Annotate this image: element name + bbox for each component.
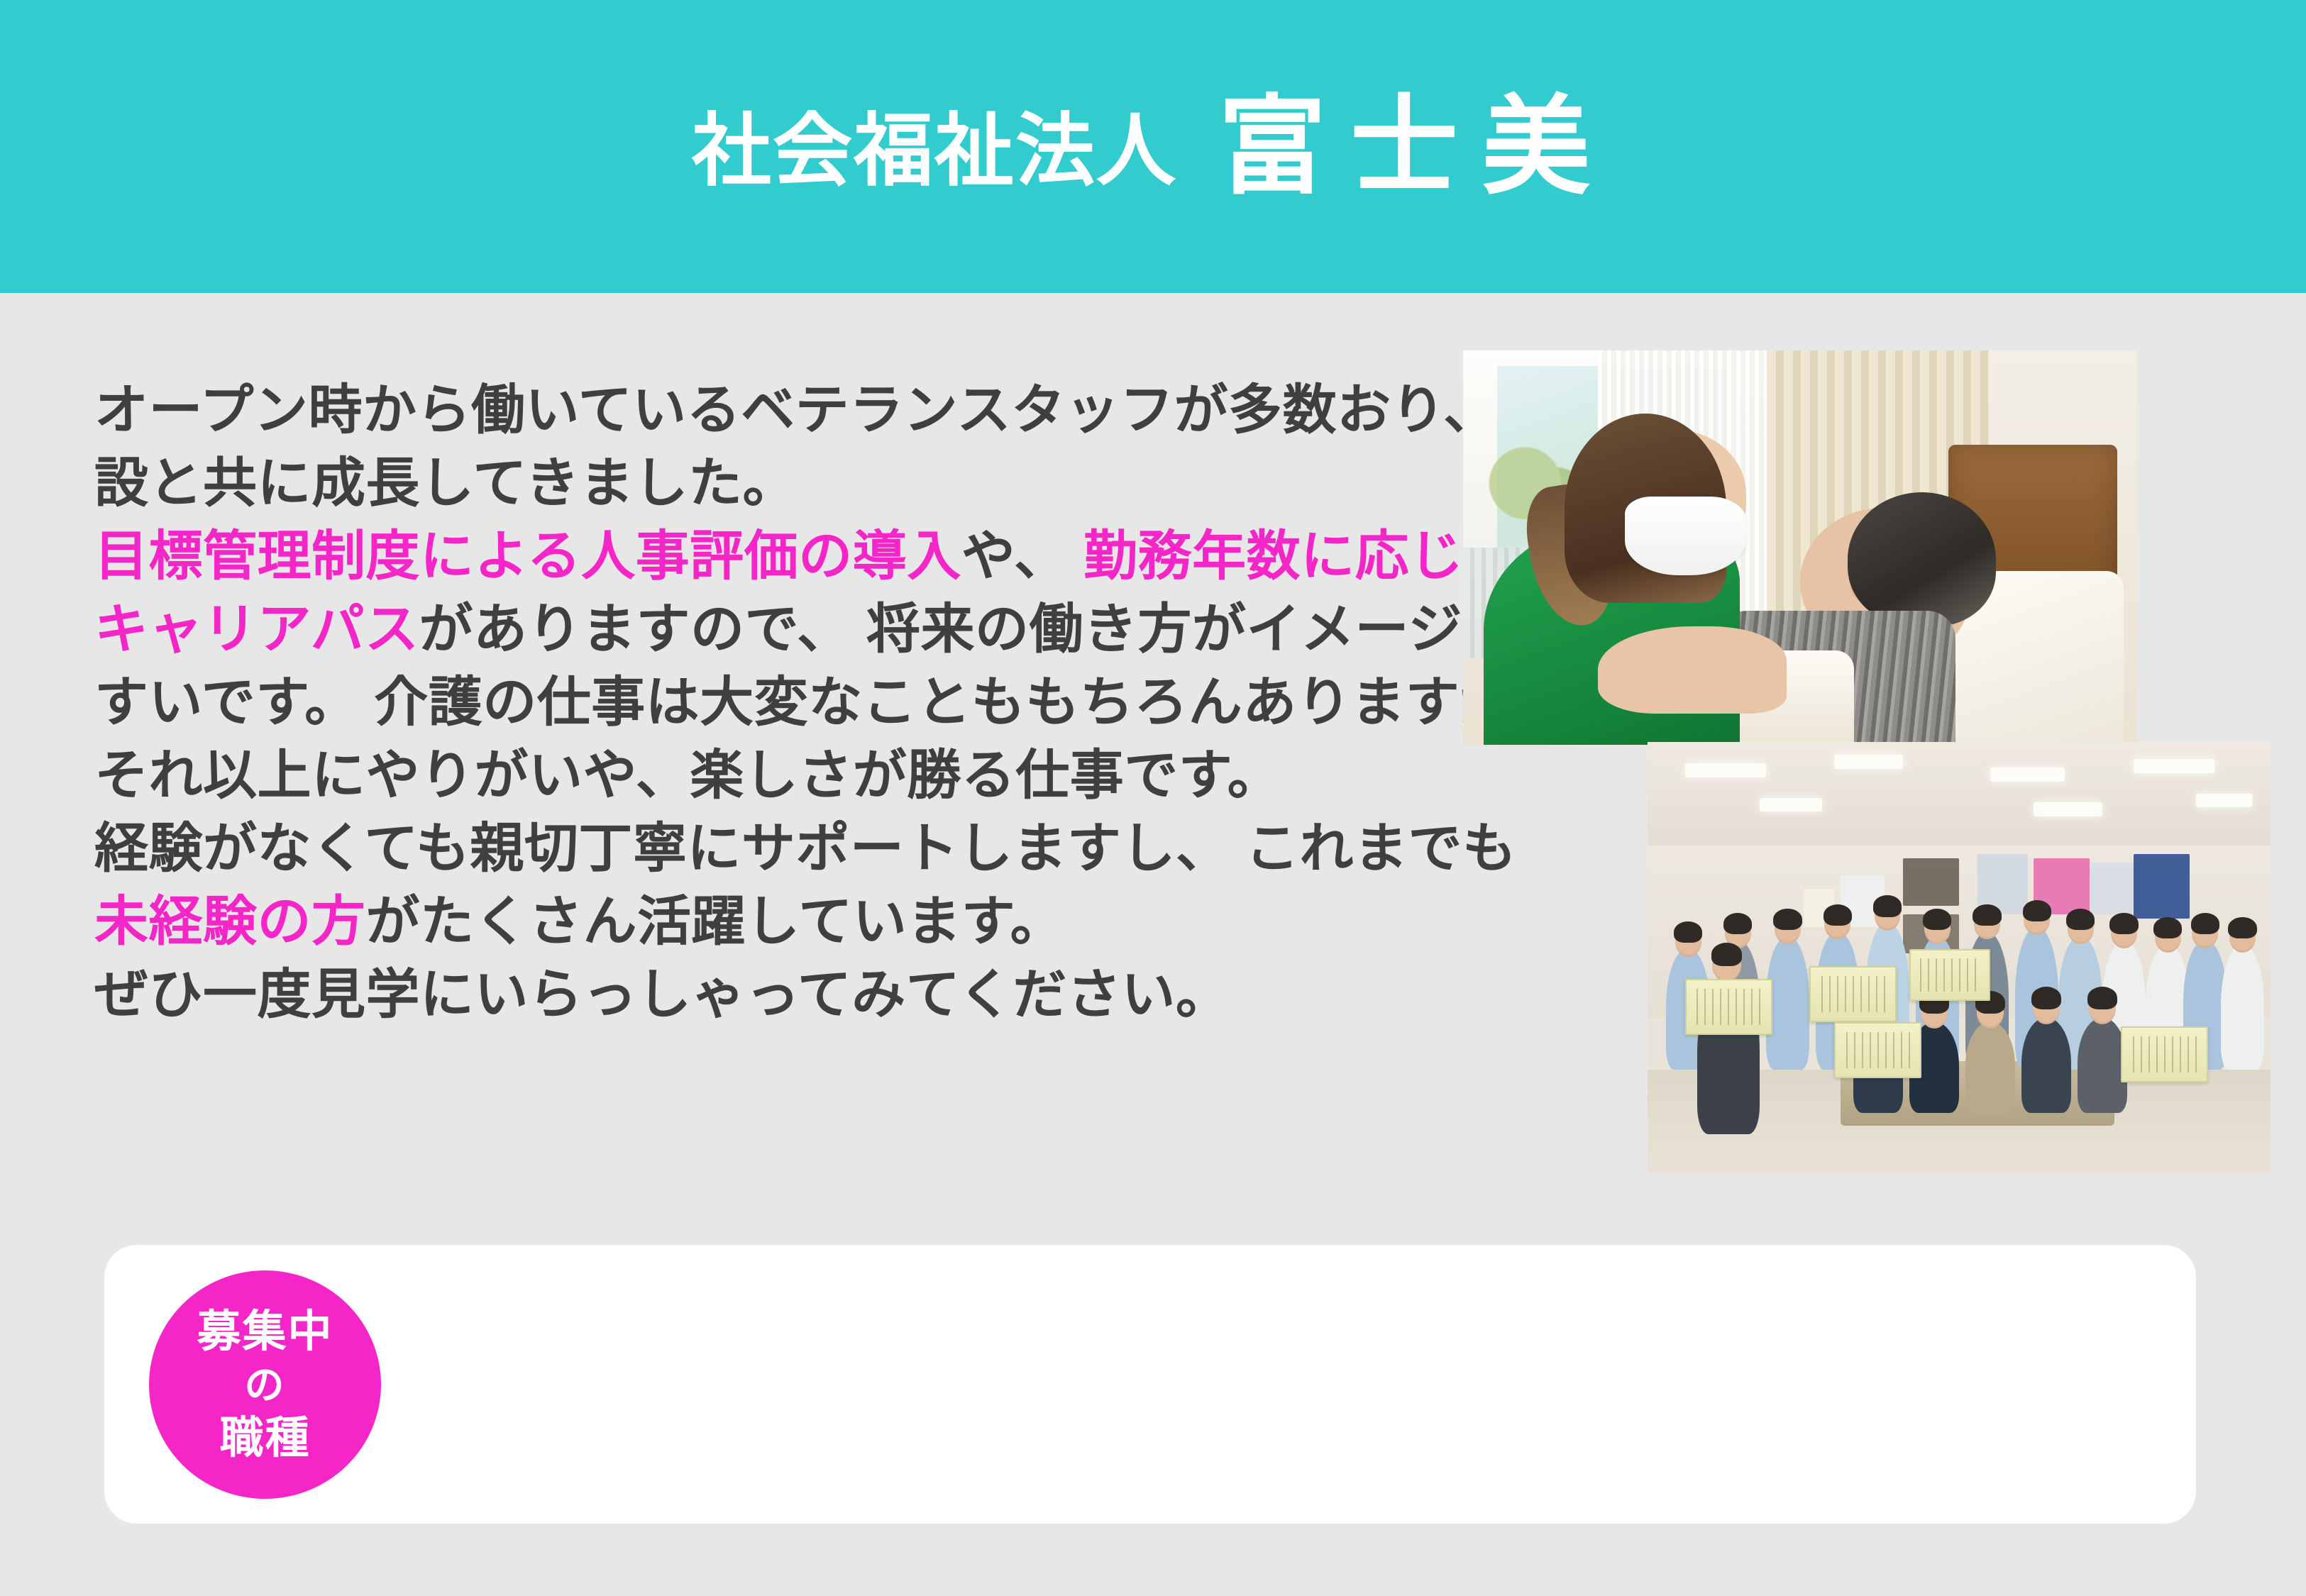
certificate — [1809, 966, 1897, 1022]
badge-line-2: の — [245, 1359, 286, 1411]
resident-hair — [1848, 492, 1996, 626]
body-copy-line: オープン時から働いているベテランスタッフが多数おり、施 — [94, 374, 1435, 447]
staff-hair — [1674, 921, 1702, 943]
ceiling-light — [2134, 759, 2214, 772]
certificate — [1909, 949, 1990, 1001]
staff-hair — [2066, 909, 2095, 930]
body-copy-line: 設と共に成長してきました。 — [94, 447, 1435, 520]
staff-hair — [1711, 943, 1743, 966]
poster-root: 社会福祉法人 富士美 オープン時から働いているベテランスタッフが多数おり、施設と… — [0, 0, 2306, 1596]
body-text: 経験がなくても親切丁寧にサポートしますし、 これまでも — [94, 819, 1517, 879]
recruiting-panel: 募集中 の 職種 【フルタイム】 ・介護職員・地域包括支援センター社会福祉士・居… — [104, 1245, 2196, 1524]
ceiling-light — [1834, 755, 1903, 768]
organization-name: 富士美 — [1218, 93, 1614, 201]
staff-hair — [2031, 987, 2061, 1009]
body-text: オープン時から働いているベテランスタッフが多数おり、施 — [94, 380, 1552, 440]
staff-person-seated — [2021, 1018, 2071, 1113]
staff-hair — [1923, 909, 1951, 930]
body-copy-line: それ以上にやりがいや、楽しさが勝る仕事です。 — [94, 739, 1435, 812]
body-text: がたくさん活躍しています。 — [366, 892, 1065, 952]
body-text: それ以上にやりがいや、楽しさが勝る仕事です。 — [94, 746, 1281, 806]
wall-poster — [1903, 858, 1959, 906]
photo-staff-group — [1648, 742, 2271, 1173]
body-copy-line: すいです。 介護の仕事は大変なことももちろんありますが、 — [94, 666, 1435, 739]
recruiting-badge: 募集中 の 職種 — [149, 1270, 381, 1499]
ceiling-light — [1990, 767, 2065, 781]
highlighted-text: 勤務年数に応じた — [1068, 526, 1518, 587]
body-text: ぜひ一度見学にいらっしゃってみてください。 — [94, 965, 1230, 1025]
body-copy: オープン時から働いているベテランスタッフが多数おり、施設と共に成長してきました。… — [94, 374, 1435, 1031]
body-text: 設と共に成長してきました。 — [94, 453, 797, 514]
staff-hair — [1773, 909, 1802, 930]
header-title-group: 社会福祉法人 富士美 — [0, 0, 2306, 293]
staff-hair — [1723, 913, 1752, 934]
face-mask — [1625, 497, 1746, 575]
body-copy-line: ぜひ一度見学にいらっしゃってみてください。 — [94, 958, 1435, 1031]
wall-poster — [2134, 854, 2190, 919]
staff-person — [2221, 945, 2264, 1070]
staff-hair — [1873, 895, 1902, 916]
staff-person-seated — [2078, 1018, 2127, 1113]
body-copy-line: 目標管理制度による人事評価の導入や、 勤務年数に応じた — [94, 520, 1435, 593]
ceiling-light — [2034, 802, 2102, 816]
caregiver-arm — [1598, 626, 1787, 713]
certificate — [1685, 979, 1772, 1035]
body-text: がありますので、 将来の働き方がイメージしや — [419, 599, 1570, 660]
body-copy-line: 経験がなくても親切丁寧にサポートしますし、 これまでも — [94, 812, 1435, 885]
staff-hair — [2153, 917, 2182, 938]
highlighted-text: キャリアパス — [94, 599, 419, 660]
body-text: すいです。 介護の仕事は大変なことももちろんありますが、 — [94, 672, 1567, 733]
staff-hair — [2191, 913, 2219, 934]
ceiling-light — [1685, 763, 1766, 777]
staff-hair — [2228, 917, 2256, 938]
body-text: や、 — [961, 526, 1069, 587]
certificate — [1834, 1022, 1921, 1078]
photo-caregiver-with-resident — [1463, 350, 2137, 745]
header-band: 社会福祉法人 富士美 — [0, 0, 2306, 293]
certificate — [2121, 1026, 2208, 1082]
staff-hair — [2109, 913, 2138, 934]
wall-poster — [2090, 863, 2139, 914]
body-copy-line: キャリアパスがありますので、 将来の働き方がイメージしや — [94, 593, 1435, 666]
staff-hair — [1973, 904, 2001, 926]
highlighted-text: 未経験の方 — [94, 892, 366, 952]
badge-line-1: 募集中 — [197, 1306, 333, 1358]
ceiling-light — [2196, 794, 2252, 807]
staff-person — [1766, 936, 1809, 1070]
staff-hair — [1824, 904, 1852, 926]
staff-person-seated — [1965, 1022, 2015, 1113]
highlighted-text: 目標管理制度による人事評価の導入 — [94, 526, 961, 587]
ceiling-light — [1760, 798, 1822, 811]
badge-line-3: 職種 — [219, 1412, 310, 1464]
staff-hair — [2087, 987, 2117, 1009]
staff-hair — [2023, 900, 2051, 921]
organization-kind: 社会福祉法人 — [692, 111, 1177, 191]
body-copy-line: 未経験の方がたくさん活躍しています。 — [94, 885, 1435, 958]
